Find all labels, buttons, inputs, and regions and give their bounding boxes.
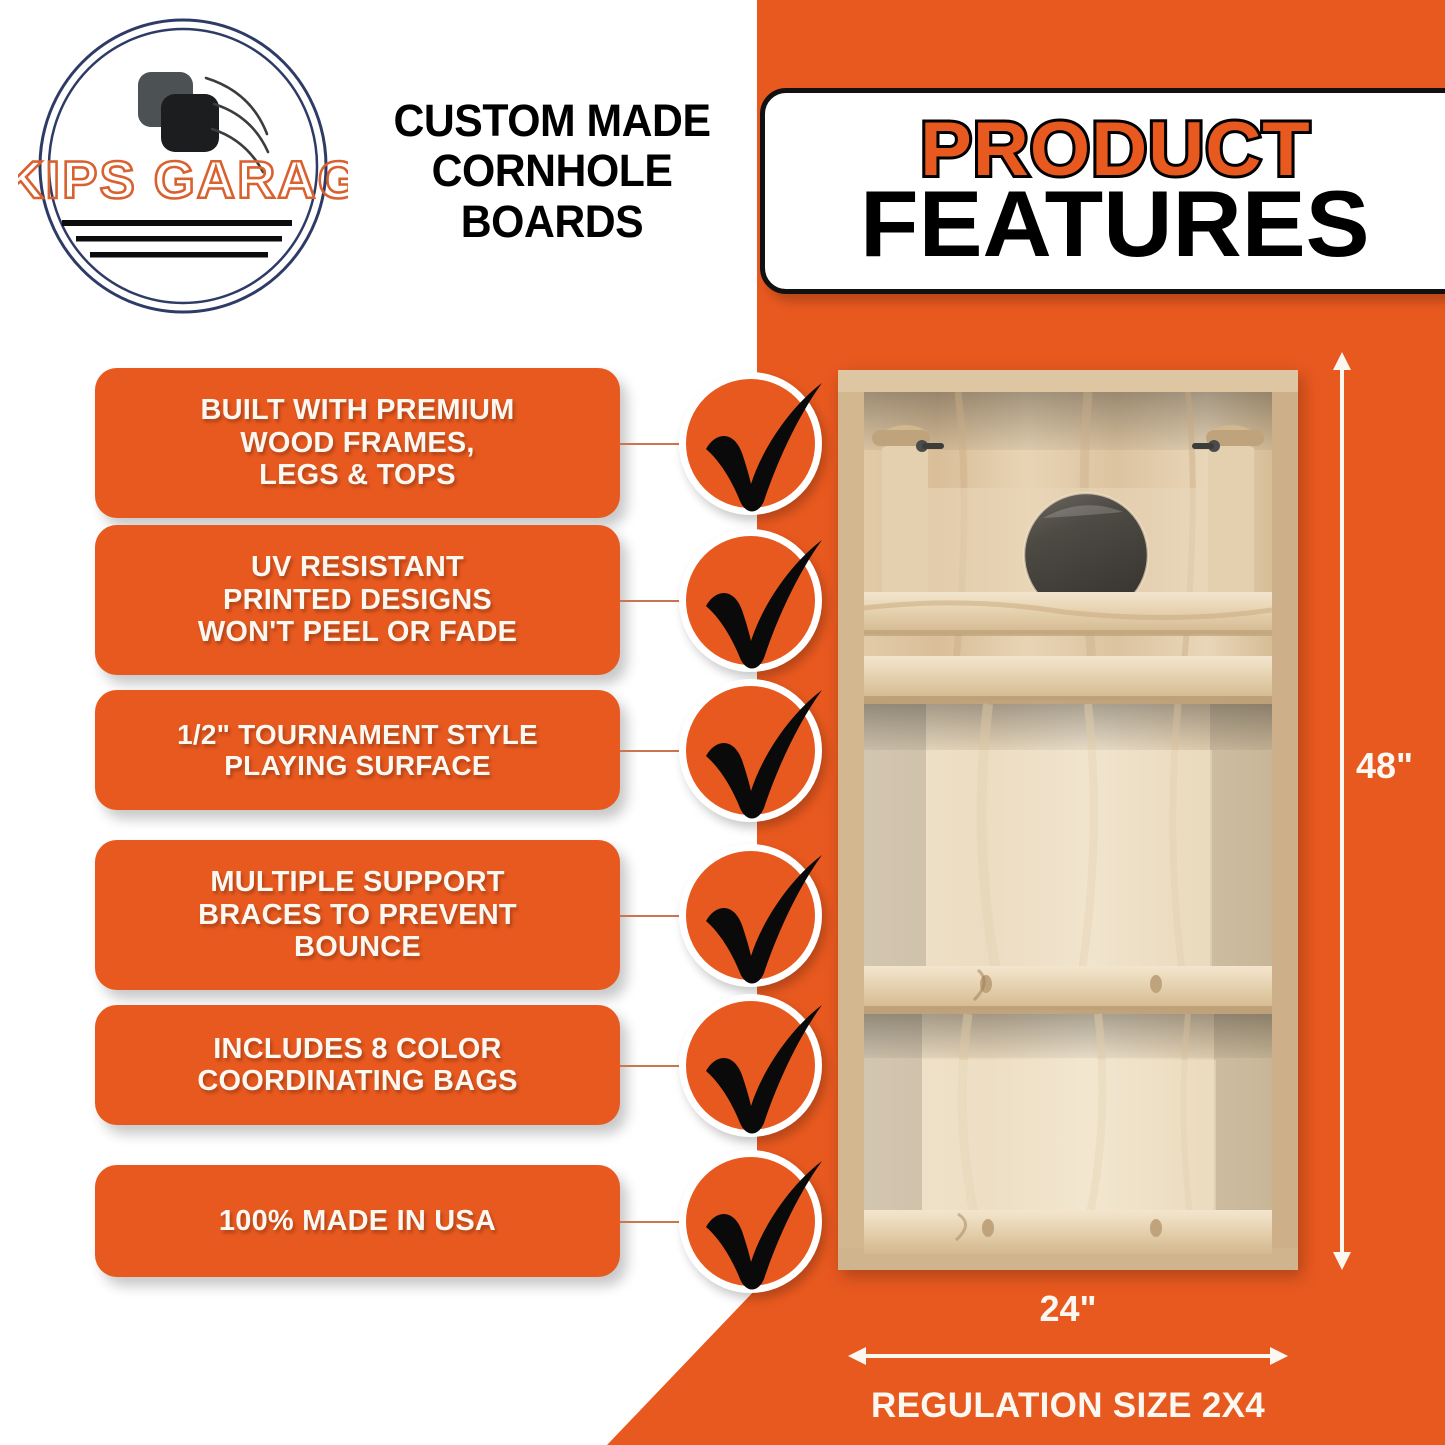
width-dimension-arrow [848, 1345, 1288, 1367]
brand-logo: SKIPS GARAGE [18, 16, 348, 316]
height-dimension-label: 48" [1356, 745, 1413, 787]
logo-wordmark: SKIPS GARAGE [18, 151, 348, 210]
product-features-banner: PRODUCT FEATURES [760, 88, 1445, 294]
feature-pill-text: UV RESISTANT PRINTED DESIGNS WON'T PEEL … [198, 551, 517, 648]
check-badge [679, 844, 822, 987]
page-title: CUSTOM MADE CORNHOLE BOARDS [362, 96, 742, 247]
check-badge [679, 529, 822, 672]
support-brace-top [864, 592, 1272, 636]
support-brace-middle [864, 966, 1272, 1014]
skips-garage-logo-icon: SKIPS GARAGE [18, 16, 348, 316]
product-photo-cornhole-board [838, 370, 1298, 1270]
feature-pill: 1/2" TOURNAMENT STYLE PLAYING SURFACE [95, 690, 620, 810]
check-icon [672, 664, 842, 834]
check-badge [679, 1150, 822, 1293]
support-brace-upper [864, 656, 1272, 704]
support-brace-bottom [864, 1210, 1272, 1254]
feature-row: MULTIPLE SUPPORT BRACES TO PREVENT BOUNC… [0, 840, 840, 990]
feature-pill-text: MULTIPLE SUPPORT BRACES TO PREVENT BOUNC… [198, 866, 517, 963]
headline-line-2: CORNHOLE [362, 146, 742, 196]
feature-pill-text: 100% MADE IN USA [219, 1205, 496, 1237]
check-icon [672, 979, 842, 1149]
check-icon [672, 829, 842, 999]
feature-pill-text: 1/2" TOURNAMENT STYLE PLAYING SURFACE [177, 719, 538, 782]
feature-pill-text: INCLUDES 8 COLOR COORDINATING BAGS [197, 1033, 517, 1098]
width-dimension-label: 24" [848, 1288, 1288, 1330]
feature-pill: BUILT WITH PREMIUM WOOD FRAMES, LEGS & T… [95, 368, 620, 518]
check-badge [679, 994, 822, 1137]
height-dimension-arrow [1330, 352, 1354, 1270]
feature-row: 100% MADE IN USA [0, 1165, 840, 1277]
feature-pill: MULTIPLE SUPPORT BRACES TO PREVENT BOUNC… [95, 840, 620, 990]
check-icon [672, 357, 842, 527]
feature-row: 1/2" TOURNAMENT STYLE PLAYING SURFACE [0, 690, 840, 810]
headline-line-1: CUSTOM MADE [362, 96, 742, 146]
check-icon [672, 514, 842, 684]
check-badge [679, 679, 822, 822]
feature-pill: INCLUDES 8 COLOR COORDINATING BAGS [95, 1005, 620, 1125]
headline-line-3: BOARDS [362, 197, 742, 247]
feature-row: INCLUDES 8 COLOR COORDINATING BAGS [0, 1005, 840, 1125]
banner-line-features: FEATURES [860, 181, 1370, 267]
check-badge [679, 372, 822, 515]
feature-pill: 100% MADE IN USA [95, 1165, 620, 1277]
regulation-size-note: REGULATION SIZE 2X4 [828, 1386, 1308, 1426]
infographic-canvas: SKIPS GARAGE CUSTOM MADE CORNHOLE BOARDS… [0, 0, 1445, 1445]
feature-row: BUILT WITH PREMIUM WOOD FRAMES, LEGS & T… [0, 368, 840, 518]
check-icon [672, 1135, 842, 1305]
feature-pill: UV RESISTANT PRINTED DESIGNS WON'T PEEL … [95, 525, 620, 675]
feature-row: UV RESISTANT PRINTED DESIGNS WON'T PEEL … [0, 525, 840, 675]
feature-pill-text: BUILT WITH PREMIUM WOOD FRAMES, LEGS & T… [201, 394, 515, 491]
